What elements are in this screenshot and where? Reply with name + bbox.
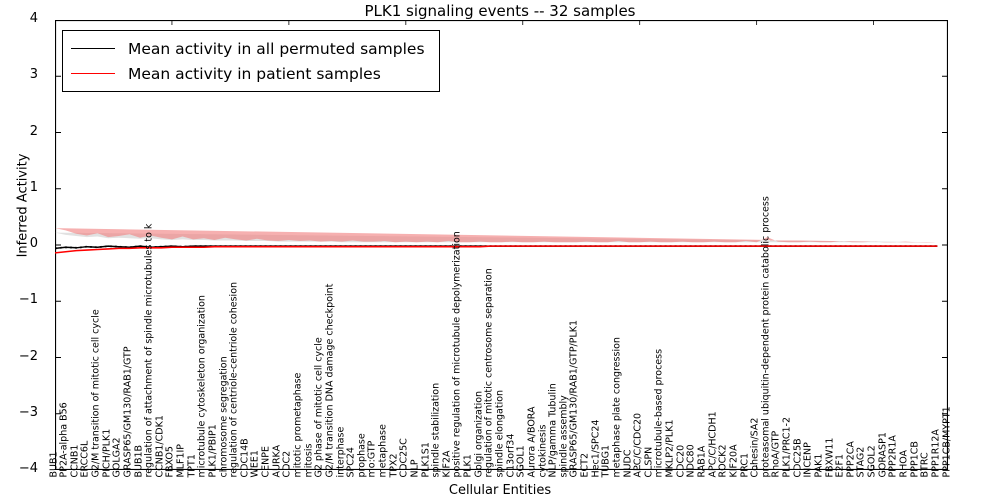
legend-swatch-permuted [71, 48, 115, 49]
chart-figure: PLK1 signaling events -- 32 samples Infe… [0, 0, 1000, 500]
chart-title: PLK1 signaling events -- 32 samples [0, 2, 1000, 20]
legend-item-permuted: Mean activity in all permuted samples [71, 36, 425, 61]
legend-swatch-patient [71, 73, 115, 74]
y-tick-label: −4 [12, 461, 38, 476]
y-tick-label: −2 [12, 349, 38, 364]
y-tick-label: 4 [12, 11, 38, 26]
y-tick-label: −1 [12, 292, 38, 307]
legend-label-permuted: Mean activity in all permuted samples [128, 40, 425, 58]
y-tick-label: −3 [12, 405, 38, 420]
y-tick-label: 0 [12, 236, 38, 251]
y-axis-tick-labels: 43210−1−2−3−4 [12, 0, 38, 500]
y-tick-label: 1 [12, 180, 38, 195]
patient-confidence-band [55, 228, 937, 243]
legend-item-patient: Mean activity in patient samples [71, 61, 425, 86]
patient-mean-line [55, 246, 937, 253]
chart-legend: Mean activity in all permuted samples Me… [62, 30, 440, 92]
x-axis-label: Cellular Entities [0, 483, 1000, 498]
y-tick-label: 3 [12, 67, 38, 82]
y-tick-label: 2 [12, 124, 38, 139]
legend-label-patient: Mean activity in patient samples [128, 65, 381, 83]
